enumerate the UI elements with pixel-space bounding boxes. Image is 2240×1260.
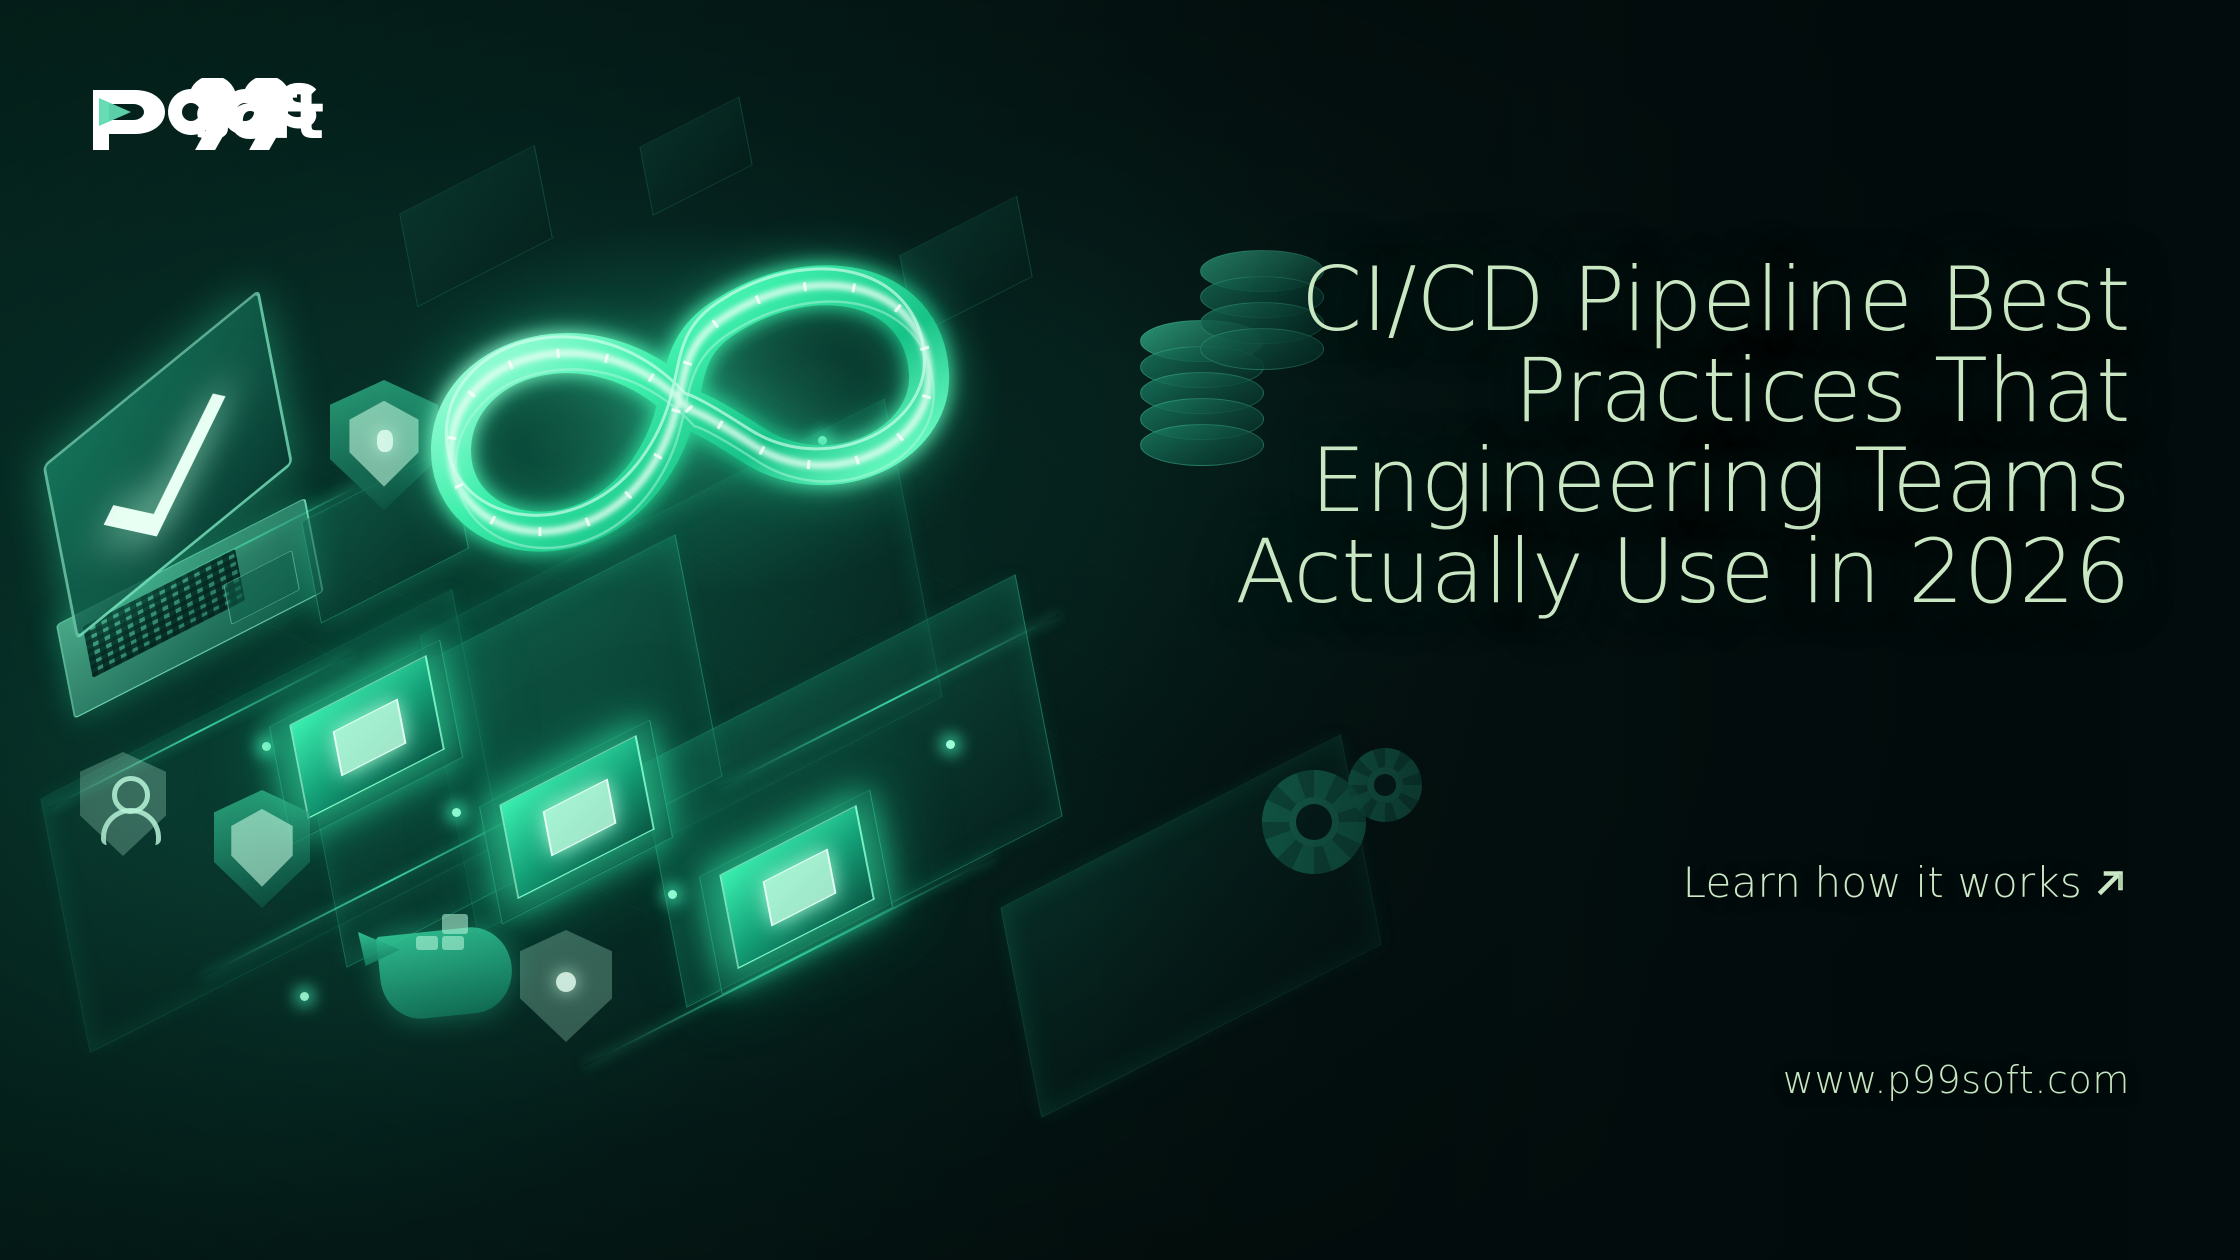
title-line-1: CI/CD Pipeline Best bbox=[1120, 255, 2130, 346]
title-line-2: Practices That bbox=[1120, 346, 2130, 437]
page-title: CI/CD Pipeline Best Practices That Engin… bbox=[1120, 255, 2130, 618]
arrow-up-right-icon bbox=[2092, 862, 2130, 900]
arrow-up-right-svg bbox=[2092, 863, 2130, 901]
title-line-4: Actually Use in 2026 bbox=[1120, 527, 2130, 618]
footer-url[interactable]: www.p99soft.com bbox=[1783, 1058, 2130, 1102]
content-column: CI/CD Pipeline Best Practices That Engin… bbox=[1120, 0, 2130, 1260]
title-line-3: Engineering Teams bbox=[1120, 436, 2130, 527]
learn-how-it-works-link[interactable]: Learn how it works bbox=[1683, 858, 2130, 907]
logo-wordmark-soft: soft bbox=[194, 80, 322, 153]
banner-root: P99soft soft CI/CD Pipeline Best Practic… bbox=[0, 0, 2240, 1260]
cta-label: Learn how it works bbox=[1683, 858, 2082, 907]
